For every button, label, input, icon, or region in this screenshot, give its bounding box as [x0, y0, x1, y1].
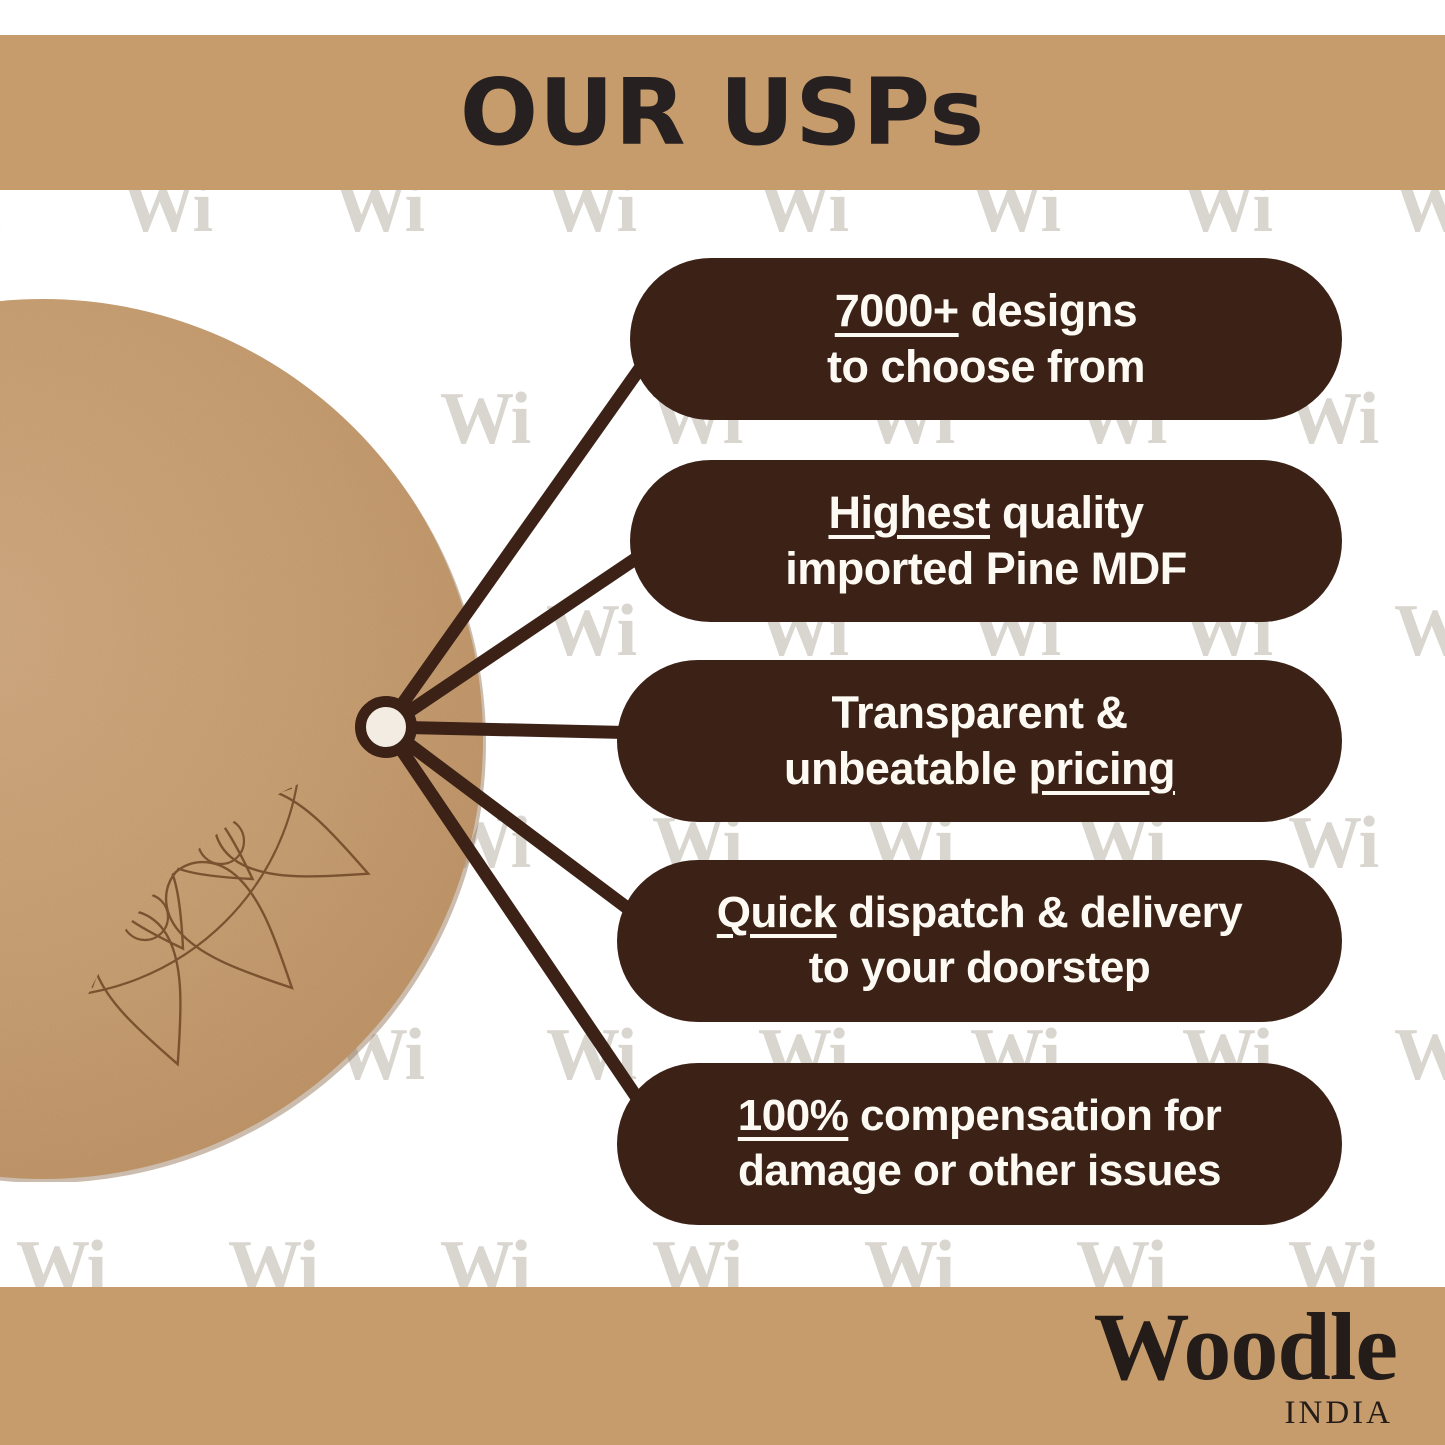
usp-line-2: unbeatable pricing [784, 741, 1175, 797]
usp-highlight: Quick [717, 888, 837, 937]
usp-card-designs[interactable]: 7000+ designs to choose from [630, 258, 1342, 420]
usp-line-1: 100% compensation for [738, 1089, 1221, 1144]
watermark-wi: Wi [1394, 594, 1445, 668]
usp-card-dispatch[interactable]: Quick dispatch & delivery to your doorst… [617, 860, 1342, 1022]
page-title: OUR USPs [460, 67, 985, 159]
central-hub-node [355, 696, 417, 758]
usp-line-1: 7000+ designs [835, 283, 1137, 339]
usp-line-2: to choose from [827, 339, 1145, 395]
usp-highlight: 7000+ [835, 285, 959, 336]
usp-line-1: Quick dispatch & delivery [717, 886, 1242, 941]
watermark-wi: Wi [546, 1018, 635, 1092]
usp-card-compensation[interactable]: 100% compensation for damage or other is… [617, 1063, 1342, 1225]
footer-band: Woodle INDIA [0, 1287, 1445, 1445]
usp-text: designs [959, 285, 1138, 336]
usp-highlight: 100% [738, 1091, 849, 1140]
brand-logo: Woodle INDIA [1094, 1299, 1397, 1430]
header-band: OUR USPs [0, 35, 1445, 190]
watermark-wi: Wi [1394, 1018, 1445, 1092]
watermark-wi: Wi [546, 594, 635, 668]
usp-infographic: WiWiWiWiWiWiWiWiWiWiWiWiWiWiWiWiWiWiWiWi… [0, 0, 1445, 1445]
usp-text: unbeatable [784, 743, 1029, 794]
usp-text: dispatch & delivery [837, 888, 1243, 937]
watermark-wi: Wi [1288, 806, 1377, 880]
usp-line-2: damage or other issues [738, 1144, 1221, 1199]
usp-card-quality[interactable]: Highest quality imported Pine MDF [630, 460, 1342, 622]
usp-highlight: Highest [828, 487, 990, 538]
usp-line-2: to your doorstep [809, 941, 1151, 996]
usp-line-2: imported Pine MDF [785, 541, 1187, 597]
usp-highlight: pricing [1029, 743, 1176, 794]
usp-line-1: Transparent & [831, 685, 1127, 741]
brand-name: Woodle [1094, 1299, 1397, 1395]
usp-card-pricing[interactable]: Transparent & unbeatable pricing [617, 660, 1342, 822]
brand-subtitle: INDIA [1094, 1397, 1393, 1430]
usp-text: compensation for [848, 1091, 1221, 1140]
usp-text: quality [990, 487, 1144, 538]
usp-line-1: Highest quality [828, 485, 1143, 541]
